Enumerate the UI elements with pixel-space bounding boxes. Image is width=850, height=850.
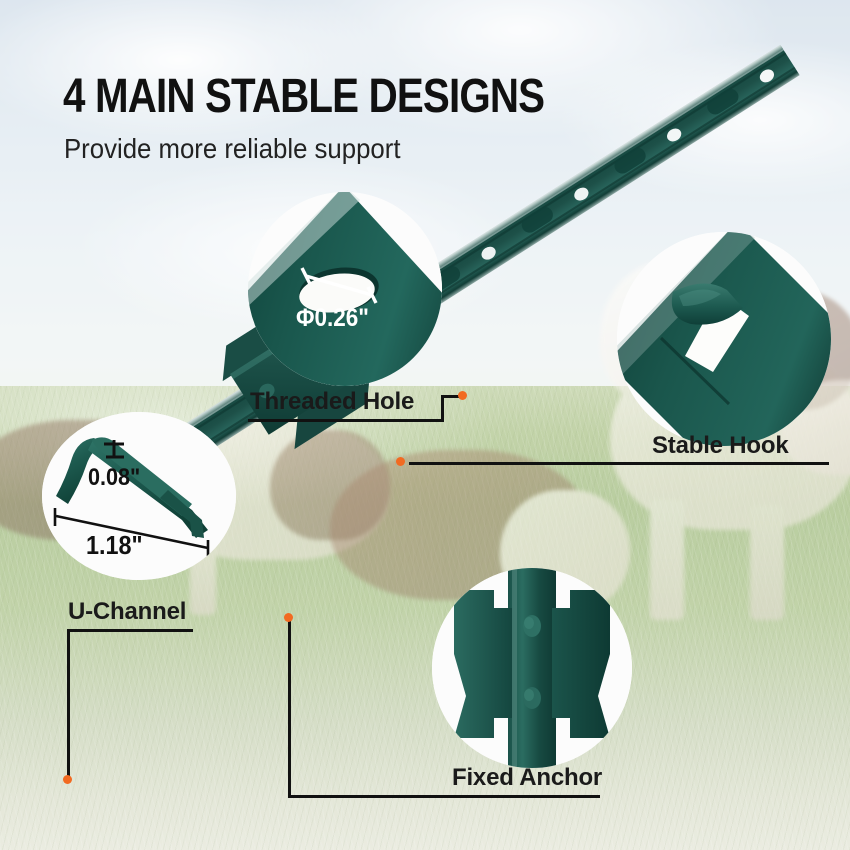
callout-stable-hook: [617, 232, 831, 446]
callout-threaded-hole: Φ0.26": [248, 192, 442, 386]
marker-dot-threaded-hole: [458, 391, 467, 400]
callout-label-fixed-anchor: Fixed Anchor: [452, 764, 602, 792]
marker-dot-fixed-anchor: [284, 613, 293, 622]
lead-line-stable-hook-underline: [409, 462, 829, 465]
marker-dot-stable-hook: [396, 457, 405, 466]
lead-line-fixed-anchor-riser: [288, 617, 291, 797]
lead-line-threaded-hole-riser: [441, 397, 444, 421]
callout-u-channel: 0.08" 1.18": [42, 412, 236, 580]
infographic-canvas: 4 MAIN STABLE DESIGNS Provide more relia…: [0, 0, 850, 850]
lead-line-threaded-hole-underline: [248, 419, 444, 422]
callout-label-threaded-hole: Threaded Hole: [250, 388, 414, 416]
callout-label-u-channel: U-Channel: [68, 598, 186, 626]
lead-line-u-channel-riser: [67, 629, 70, 780]
callout-label-stable-hook: Stable Hook: [652, 432, 789, 460]
u-channel-width-dimension: 1.18": [86, 530, 143, 561]
callout-fixed-anchor: [432, 568, 632, 768]
threaded-hole-dimension: Φ0.26": [296, 304, 369, 333]
lead-line-u-channel-underline: [67, 629, 193, 632]
marker-dot-u-channel: [63, 775, 72, 784]
lead-line-fixed-anchor-underline: [288, 795, 600, 798]
u-channel-thickness-dimension: 0.08": [88, 464, 140, 492]
